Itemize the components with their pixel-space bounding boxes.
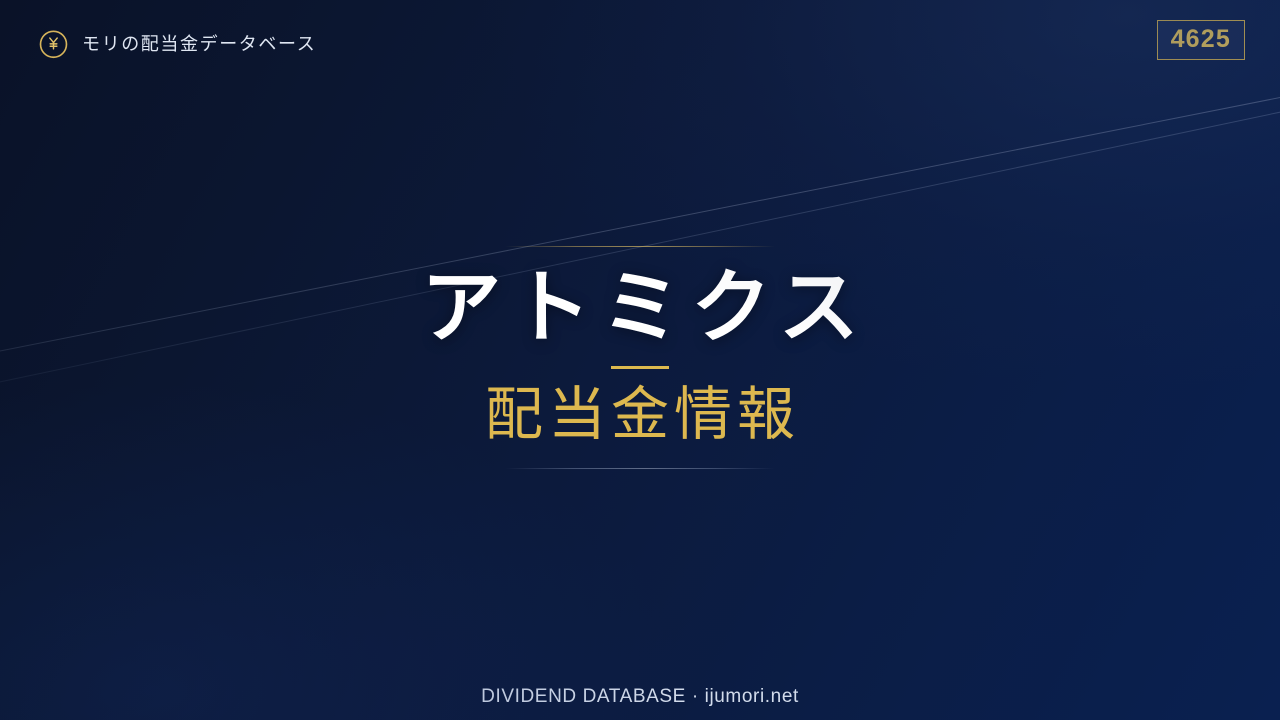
brand-title: モリの配当金データベース (82, 35, 316, 53)
slide-canvas: モリの配当金データベース 4625 アトミクス 配当金情報 DIVIDEND D… (0, 0, 1280, 720)
hero-block: アトミクス 配当金情報 (0, 246, 1280, 469)
hero-top-rule (505, 246, 775, 247)
footer-credit: DIVIDEND DATABASE · ijumori.net (0, 687, 1280, 706)
yen-coin-icon (38, 28, 69, 59)
footer: DIVIDEND DATABASE · ijumori.net (0, 687, 1280, 706)
company-name: アトミクス (0, 266, 1280, 351)
page-subtitle: 配当金情報 (0, 383, 1280, 448)
header-brand: モリの配当金データベース (38, 28, 316, 59)
ticker-code-value: 4625 (1171, 26, 1231, 52)
ticker-code-badge: 4625 (1157, 20, 1245, 60)
hero-bottom-rule (505, 468, 775, 469)
hero-gold-divider (611, 366, 669, 369)
